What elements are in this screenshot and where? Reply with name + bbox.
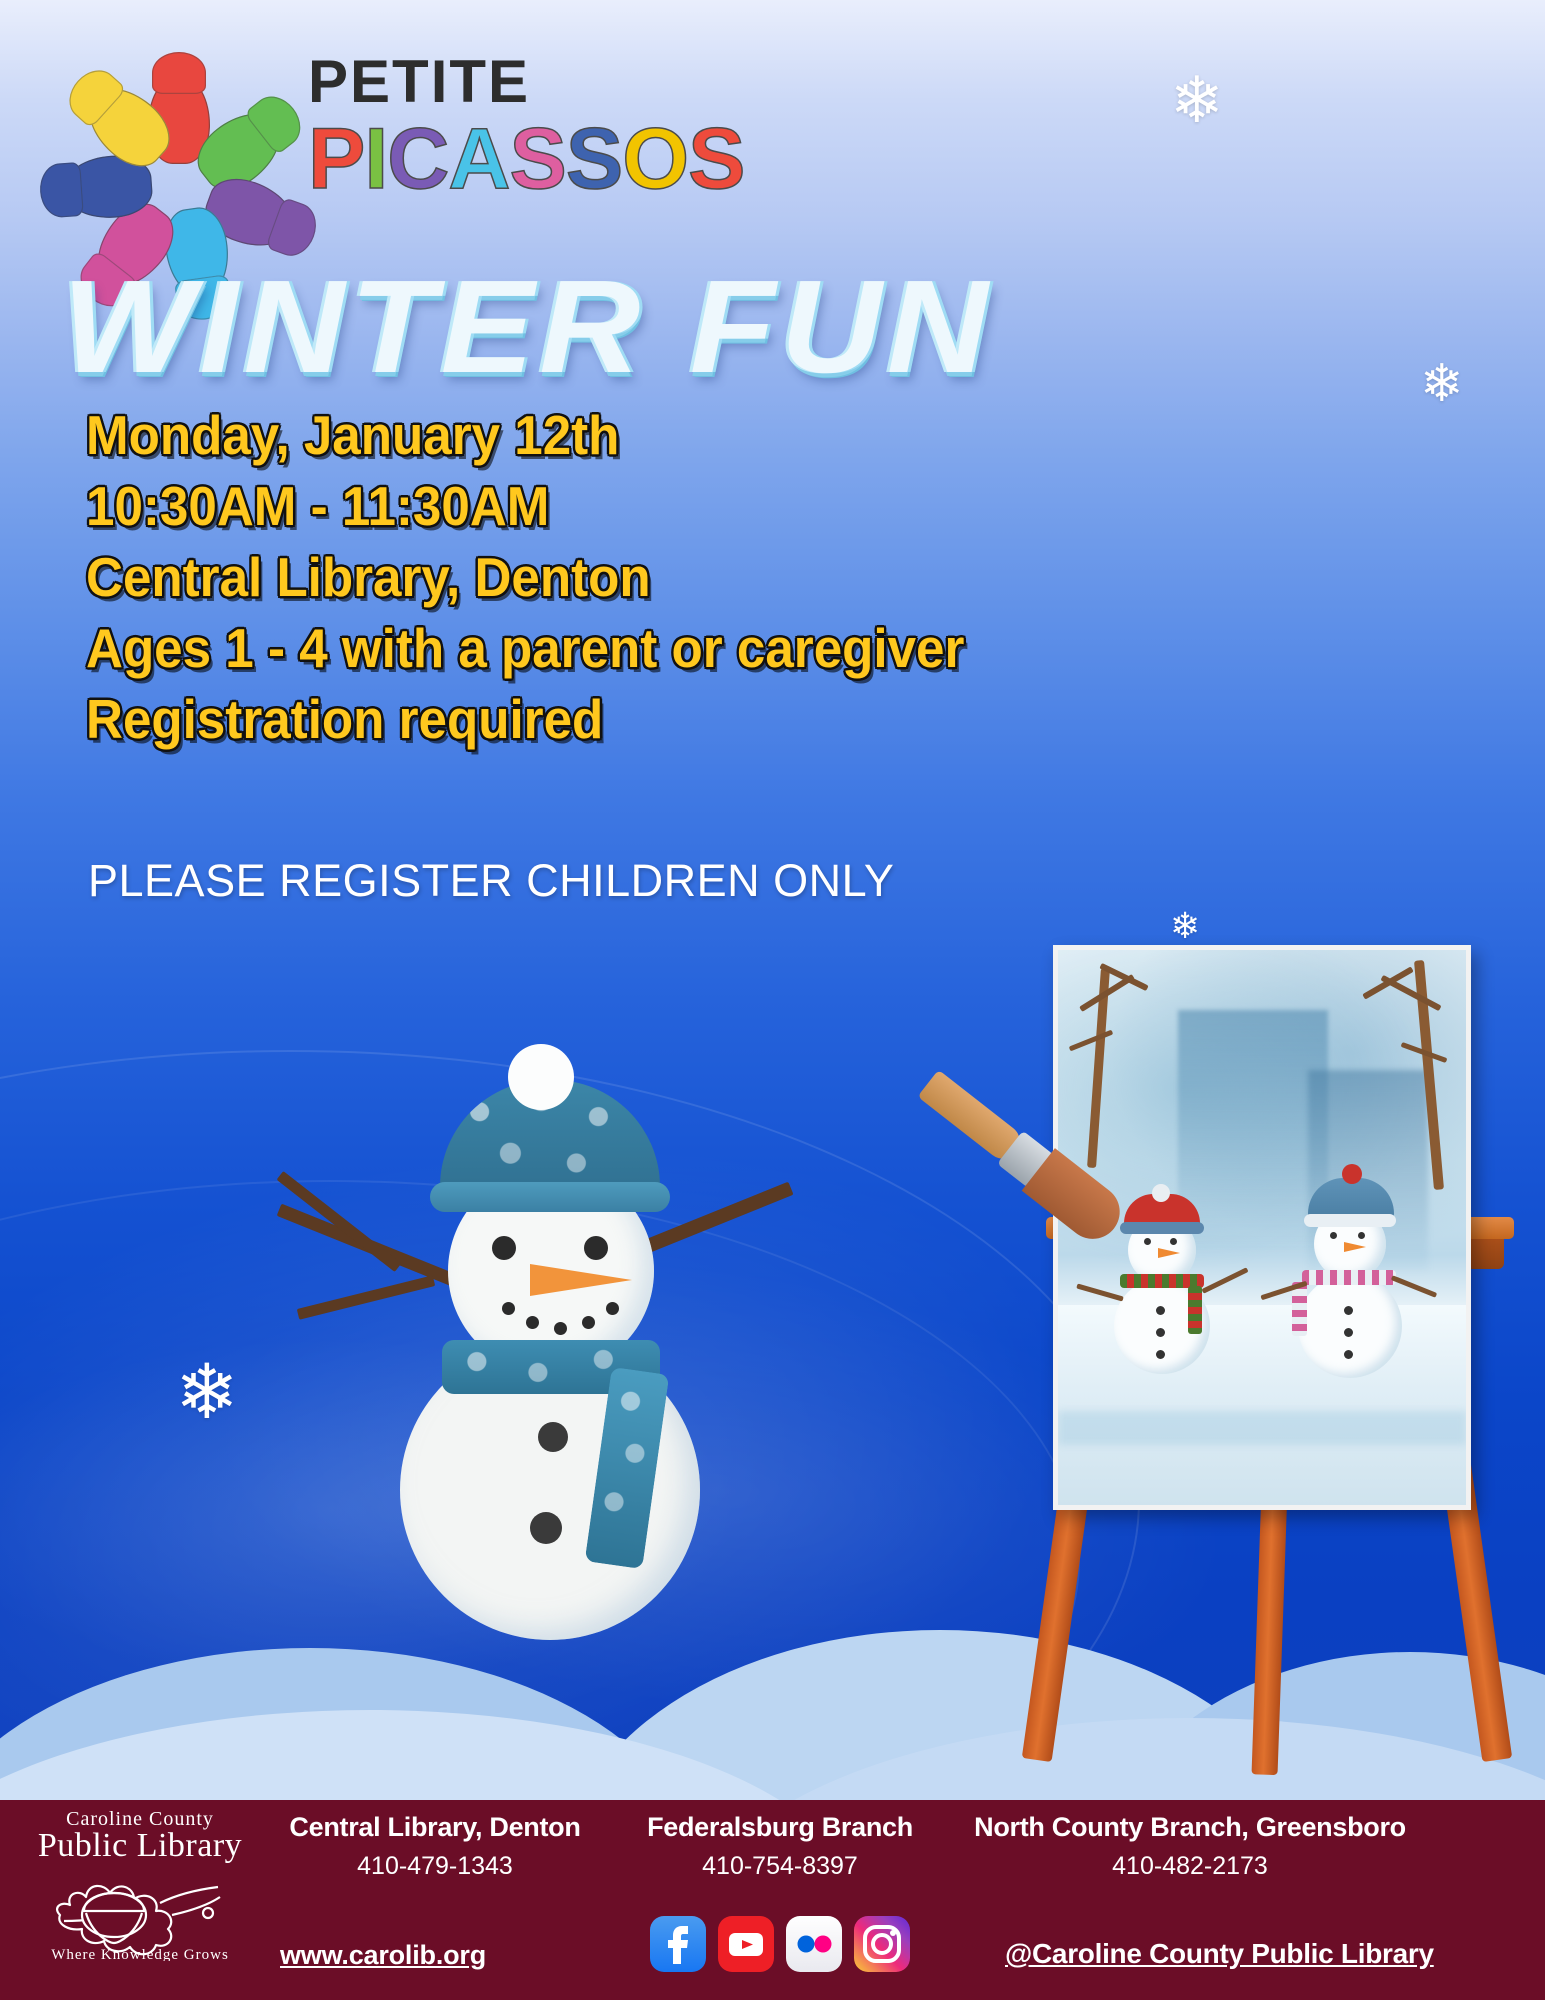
petite-picassos-logo: PETITE PICASSOS [82, 40, 722, 255]
poster: PETITE PICASSOS WINTER FUN Monday, Janua… [0, 0, 1545, 2000]
snowman-hat-pompom [508, 1044, 574, 1110]
brand-letter-5: S [566, 111, 622, 207]
snowman-hat-brim [430, 1182, 670, 1212]
snowman-mouth-dot [582, 1316, 595, 1329]
snowman-mouth-dot [526, 1316, 539, 1329]
instagram-icon[interactable] [854, 1916, 910, 1972]
branch-name: Federalsburg Branch [620, 1812, 940, 1843]
branch-phone[interactable]: 410-479-1343 [250, 1852, 620, 1881]
detail-line: Registration required [86, 684, 1128, 755]
brand-letter-2: C [387, 111, 448, 207]
easel-icon [1020, 945, 1540, 1770]
brand-letter-3: A [448, 111, 509, 207]
brand-letter-6: O [622, 111, 688, 207]
youtube-icon[interactable] [718, 1916, 774, 1972]
snowflake-icon: ❄ [1170, 908, 1200, 944]
brand-wordmark: PETITE PICASSOS [308, 52, 728, 202]
facebook-icon[interactable] [650, 1916, 706, 1972]
logo-line-library: Public Library [35, 1827, 245, 1865]
website-link[interactable]: www.carolib.org [280, 1940, 486, 1971]
snowflake-icon: ❄ [175, 1355, 239, 1431]
detail-line: Monday, January 12th [86, 400, 1128, 471]
snowman-button [530, 1512, 562, 1544]
brand-letter-4: S [510, 111, 566, 207]
snowman-arm [297, 1275, 436, 1320]
brand-petite: PETITE [308, 52, 728, 112]
brand-letter-0: P [308, 111, 364, 207]
snowman-mouth-dot [606, 1302, 619, 1315]
snowman-button [538, 1422, 568, 1452]
handprints-circle-logo-icon [82, 50, 297, 255]
snowman-eye [492, 1236, 516, 1260]
branch-item: Federalsburg Branch 410-754-8397 [620, 1812, 940, 1881]
winter-canvas-painting-icon [1053, 945, 1471, 1510]
social-handle[interactable]: @Caroline County Public Library [1005, 1938, 1434, 1970]
branch-list: Central Library, Denton 410-479-1343 Fed… [250, 1812, 1530, 1881]
snowman-nose-carrot-icon [530, 1264, 632, 1296]
social-links [650, 1916, 910, 1972]
event-details: Monday, January 12th 10:30AM - 11:30AM C… [86, 400, 1206, 755]
detail-line: Central Library, Denton [86, 542, 1128, 613]
branch-name: Central Library, Denton [250, 1812, 620, 1843]
snowflake-icon: ❄ [1170, 68, 1224, 132]
snowman-mouth-dot [502, 1302, 515, 1315]
branch-phone[interactable]: 410-482-2173 [940, 1852, 1440, 1881]
painted-snowman-icon [1274, 1170, 1424, 1420]
snowman-painting-icon [330, 1040, 750, 1780]
branch-item: Central Library, Denton 410-479-1343 [250, 1812, 620, 1881]
page-title: WINTER FUN [62, 258, 1133, 397]
detail-line: 10:30AM - 11:30AM [86, 471, 1128, 542]
branch-phone[interactable]: 410-754-8397 [620, 1852, 940, 1881]
flickr-icon[interactable] [786, 1916, 842, 1972]
canvas-artwork [1058, 950, 1466, 1505]
footer-bottom-row: www.carolib.org [0, 1918, 1545, 1998]
snowman-eye [584, 1236, 608, 1260]
footer: Caroline County Public Library Where Kno… [0, 1800, 1545, 2000]
snowman-mouth-dot [554, 1322, 567, 1335]
snowflake-icon: ❄ [1420, 358, 1464, 410]
detail-line: Ages 1 - 4 with a parent or caregiver [86, 613, 1128, 684]
brand-letter-1: I [364, 111, 387, 207]
registration-note: PLEASE REGISTER CHILDREN ONLY [88, 855, 894, 907]
brand-letter-7: S [688, 111, 744, 207]
branch-item: North County Branch, Greensboro 410-482-… [940, 1812, 1440, 1881]
brand-picassos: PICASSOS [308, 116, 728, 202]
branch-name: North County Branch, Greensboro [940, 1812, 1440, 1843]
